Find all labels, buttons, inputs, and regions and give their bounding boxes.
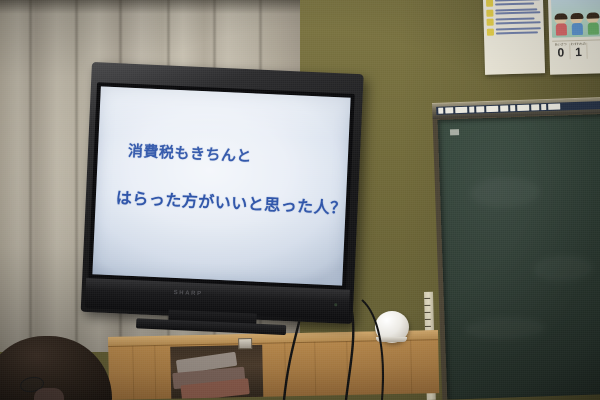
student-head [0,336,112,400]
poster-badge [487,19,494,26]
sharp-lcd-display[interactable]: 消費税もきちんと はらった方がいいと思った人？ SHARP [81,62,364,324]
poster-lines [495,27,541,35]
poster-row [486,8,540,17]
poster-badge [486,9,493,16]
cabinet-latch[interactable] [238,338,252,349]
kid-figure [585,12,600,34]
poster-lines [495,0,541,7]
rail-card [517,105,529,111]
poster-badge [487,29,494,36]
rail-card [510,105,515,111]
poster-number-cell: わすれもの 1 [570,43,588,60]
power-led-icon [334,303,337,306]
slide-line-2: はらった方がいいと思った人？ [115,184,346,218]
brand-logo: SHARP [173,290,202,297]
poster-number-value: 1 [570,46,587,60]
curtain-rod-shadow [0,0,300,14]
cabinet-open-shelf[interactable] [170,345,263,399]
rail-card [476,106,484,112]
display-screen[interactable]: 消費税もきちんと はらった方がいいと思った人？ [92,86,350,285]
rail-card [445,107,453,113]
poster-number-row: あいさつ 0 わすれもの 1 [552,39,600,60]
chalkboard [432,97,600,400]
rail-card [486,106,498,112]
wall-poster-text [483,0,545,75]
white-sphere-base [376,337,407,342]
curtain-fold [74,0,79,352]
rail-card [541,104,546,110]
chalkboard-surface [438,114,600,400]
poster-number-value: 0 [552,46,569,60]
classroom-photo: あいさつ 0 わすれもの 1 [0,0,600,400]
rail-card [438,108,443,114]
poster-number-cell [588,42,600,59]
rail-card [500,105,508,111]
kid-figure [569,13,584,35]
chalkboard-card-strip [436,101,600,115]
rail-card [469,107,474,113]
poster-row [487,27,541,36]
kid-figure [553,13,568,35]
face-edge [34,388,64,400]
curtain-fold [28,0,33,352]
poster-row [486,0,540,7]
poster-row [487,18,541,27]
slide-line-1: 消費税もきちんと [128,140,349,171]
poster-badge [486,0,493,7]
rail-card [548,104,560,110]
poster-number-cell: あいさつ 0 [552,43,570,60]
presentation-slide: 消費税もきちんと はらった方がいいと思った人？ [92,86,350,285]
poster-lines [495,18,541,26]
wall-poster-kids: あいさつ 0 わすれもの 1 [548,0,600,75]
rail-card [531,104,539,110]
chalkboard-label-card [450,129,459,135]
rail-card [455,107,467,113]
poster-lines [495,8,541,16]
kids-illustration [551,0,600,38]
